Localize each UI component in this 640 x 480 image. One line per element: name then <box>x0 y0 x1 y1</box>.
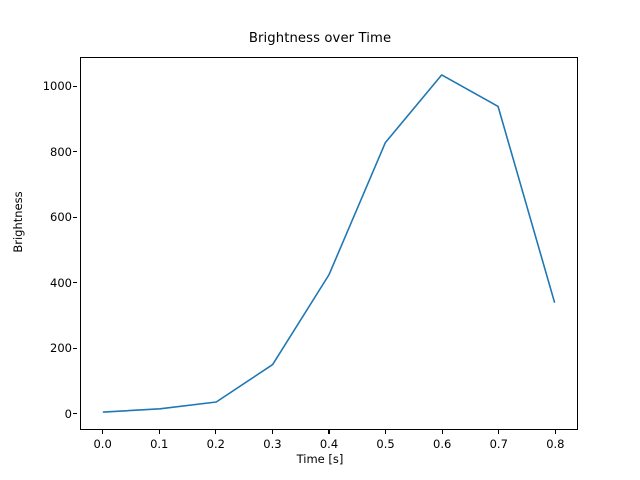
y-tick-mark-3 <box>73 217 77 218</box>
data-line-series <box>81 58 577 429</box>
y-tick-label-4: 800 <box>50 145 72 159</box>
y-tick-label-3: 600 <box>50 210 72 224</box>
chart-figure: Brightness over Time 0.00.10.20.30.40.50… <box>0 0 640 480</box>
plot-area <box>80 57 578 430</box>
x-tick-label-7: 0.7 <box>490 437 508 451</box>
y-tick-label-1: 200 <box>50 341 72 355</box>
chart-title: Brightness over Time <box>0 31 640 46</box>
x-tick-mark-6 <box>442 430 443 434</box>
x-tick-mark-0 <box>102 430 103 434</box>
x-tick-label-5: 0.5 <box>376 437 394 451</box>
y-tick-label-0: 0 <box>65 407 72 421</box>
x-tick-mark-1 <box>159 430 160 434</box>
x-tick-label-1: 0.1 <box>150 437 168 451</box>
x-tick-label-4: 0.4 <box>320 437 338 451</box>
x-tick-mark-4 <box>328 430 329 434</box>
x-tick-label-8: 0.8 <box>546 437 564 451</box>
y-tick-0: 0 <box>0 406 72 422</box>
y-tick-label-5: 1000 <box>43 79 72 93</box>
x-tick-8: 0.8 <box>515 430 595 451</box>
y-tick-label-2: 400 <box>50 276 72 290</box>
x-tick-mark-2 <box>215 430 216 434</box>
x-tick-label-2: 0.2 <box>207 437 225 451</box>
x-tick-label-3: 0.3 <box>263 437 281 451</box>
x-tick-mark-7 <box>498 430 499 434</box>
y-tick-5: 1000 <box>0 78 72 94</box>
y-tick-mark-4 <box>73 151 77 152</box>
x-tick-label-0: 0.0 <box>93 437 111 451</box>
y-tick-mark-1 <box>73 348 77 349</box>
series-polyline <box>104 75 555 412</box>
x-axis-label: Time [s] <box>0 452 640 466</box>
y-tick-mark-0 <box>73 413 77 414</box>
y-axis-label: Brightness <box>11 142 25 302</box>
x-tick-mark-5 <box>385 430 386 434</box>
y-tick-mark-5 <box>73 86 77 87</box>
x-tick-mark-3 <box>272 430 273 434</box>
x-tick-label-6: 0.6 <box>433 437 451 451</box>
y-tick-mark-2 <box>73 282 77 283</box>
y-tick-1: 200 <box>0 340 72 356</box>
x-tick-mark-8 <box>555 430 556 434</box>
